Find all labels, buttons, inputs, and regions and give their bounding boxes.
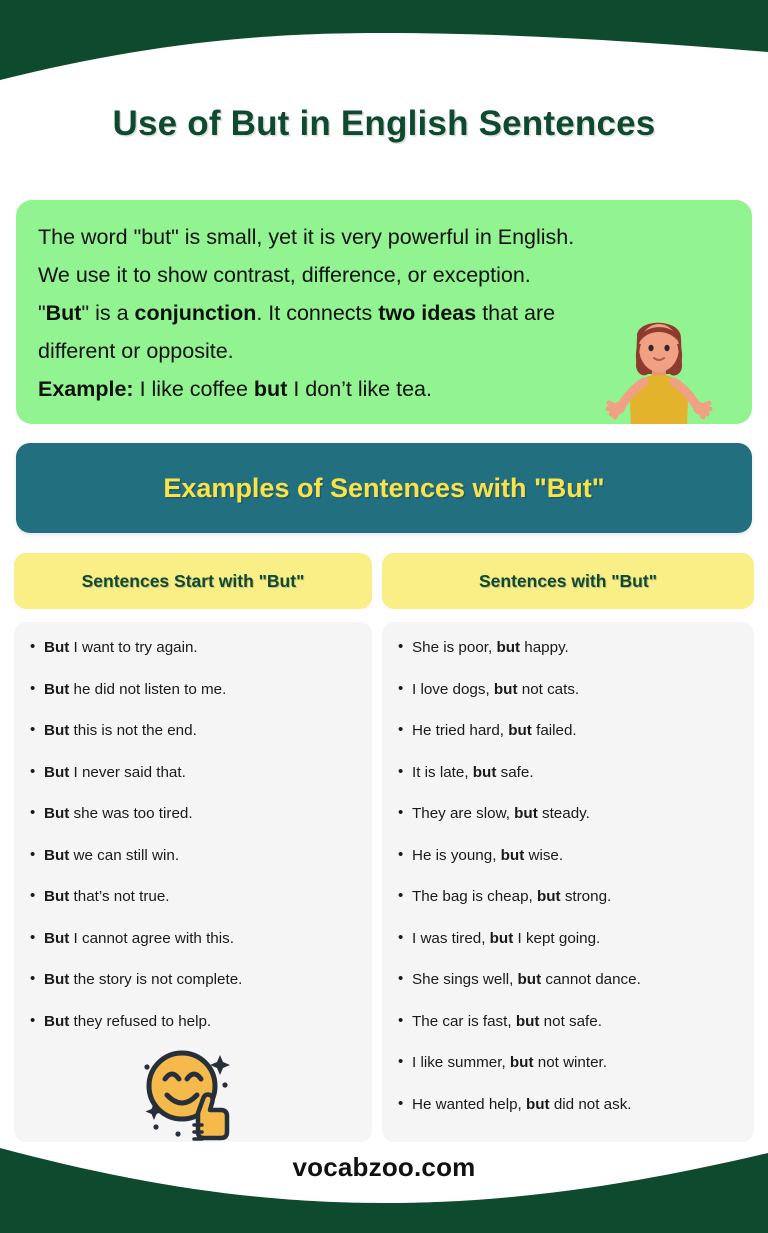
- column-header-label: Sentences with "But": [479, 571, 657, 592]
- column-header-sentences-with-but: Sentences with "But": [382, 553, 754, 609]
- list-item: It is late, but safe.: [396, 763, 744, 783]
- column-header-start-with-but: Sentences Start with "But": [14, 553, 372, 609]
- list-item: I love dogs, but not cats.: [396, 680, 744, 700]
- list-item: But he did not listen to me.: [28, 680, 362, 700]
- list-panel-sentences-with-but: She is poor, but happy.I love dogs, but …: [382, 622, 754, 1142]
- infographic-page: Use of But in English Sentences The word…: [0, 0, 768, 1233]
- intro-text: The word "but" is small, yet it is very …: [38, 218, 730, 408]
- list-panel-start-with-but: But I want to try again.But he did not l…: [14, 622, 372, 1142]
- list-item: But I want to try again.: [28, 638, 362, 658]
- list-item: He is young, but wise.: [396, 846, 744, 866]
- header-band: [0, 0, 768, 90]
- examples-lists: But I want to try again.But he did not l…: [14, 622, 754, 1142]
- intro-line: different or opposite.: [38, 332, 730, 370]
- examples-banner: Examples of Sentences with "But": [16, 443, 752, 533]
- column-header-label: Sentences Start with "But": [82, 571, 305, 592]
- list-item: I like summer, but not winter.: [396, 1053, 744, 1073]
- list-item: But I cannot agree with this.: [28, 929, 362, 949]
- footer-site-label: vocabzoo.com: [0, 1152, 768, 1183]
- list-item: But that’s not true.: [28, 887, 362, 907]
- list-item: But this is not the end.: [28, 721, 362, 741]
- list-item: I was tired, but I kept going.: [396, 929, 744, 949]
- list-item: The car is fast, but not safe.: [396, 1012, 744, 1032]
- list-item: But she was too tired.: [28, 804, 362, 824]
- list-item: She is poor, but happy.: [396, 638, 744, 658]
- list-item: But I never said that.: [28, 763, 362, 783]
- intro-line: "But" is a conjunction. It connects two …: [38, 294, 730, 332]
- list-item: She sings well, but cannot dance.: [396, 970, 744, 990]
- list-item: They are slow, but steady.: [396, 804, 744, 824]
- list-item: But they refused to help.: [28, 1012, 362, 1032]
- intro-line: We use it to show contrast, difference, …: [38, 256, 730, 294]
- list-item: He tried hard, but failed.: [396, 721, 744, 741]
- sentence-list: She is poor, but happy.I love dogs, but …: [396, 638, 744, 1115]
- intro-line: Example: I like coffee but I don’t like …: [38, 370, 730, 408]
- page-title: Use of But in English Sentences: [0, 104, 768, 144]
- column-headers: Sentences Start with "But" Sentences wit…: [14, 553, 754, 609]
- list-item: He wanted help, but did not ask.: [396, 1095, 744, 1115]
- sentence-list: But I want to try again.But he did not l…: [28, 638, 362, 1032]
- list-item: But the story is not complete.: [28, 970, 362, 990]
- examples-banner-label: Examples of Sentences with "But": [163, 473, 604, 504]
- intro-line: The word "but" is small, yet it is very …: [38, 218, 730, 256]
- list-item: But we can still win.: [28, 846, 362, 866]
- list-item: The bag is cheap, but strong.: [396, 887, 744, 907]
- intro-box: The word "but" is small, yet it is very …: [16, 200, 752, 424]
